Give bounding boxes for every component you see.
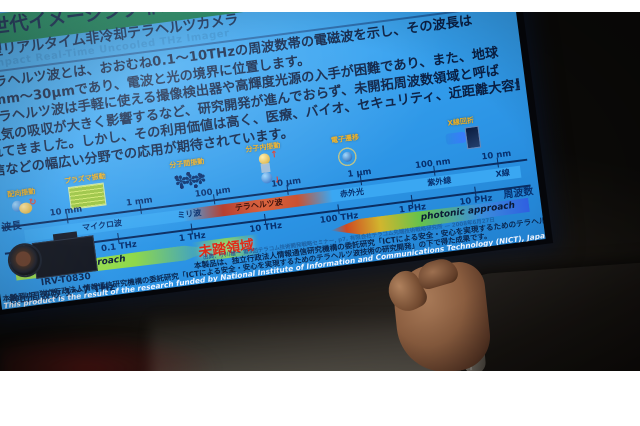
band-label-2: テラヘルツ波 <box>234 197 283 215</box>
frequency-axis-title: 周波数 <box>502 182 534 201</box>
band-label-4: 紫外線 <box>427 175 452 190</box>
index-finger <box>414 255 460 291</box>
xray-diffraction-icon <box>445 126 481 150</box>
phenomenon-1: プラズマ振動 <box>63 171 109 210</box>
phenomenon-0: 配向振動 ↻ <box>7 186 38 216</box>
band-label-5: X線 <box>495 167 511 181</box>
band-label-3: 赤外光 <box>339 186 364 201</box>
two-spheres-rotation-icon: ↻ <box>9 197 37 216</box>
phenomenon-label-4: 電子遷移 <box>330 132 359 146</box>
phenomenon-4: 電子遷移 <box>330 132 362 170</box>
frequency-tick-3: 10 THz <box>249 221 283 235</box>
band-label-1: ミリ波 <box>177 207 202 222</box>
photo-frame: 小型・ブリッジカメラ用 次世代イメージングセンサ 次世代イメージング非冷却テラヘ… <box>0 0 640 426</box>
letterbox-top <box>0 0 640 12</box>
phenomenon-5: X線回折 <box>443 115 481 150</box>
red-glow <box>0 332 220 371</box>
pointing-hand <box>391 259 494 371</box>
presenter-arm <box>392 264 640 371</box>
electron-orbit-icon <box>334 143 361 170</box>
letterbox-bottom <box>0 371 640 426</box>
dark-room-background: 小型・ブリッジカメラ用 次世代イメージングセンサ 次世代イメージング非冷却テラヘ… <box>0 12 640 371</box>
